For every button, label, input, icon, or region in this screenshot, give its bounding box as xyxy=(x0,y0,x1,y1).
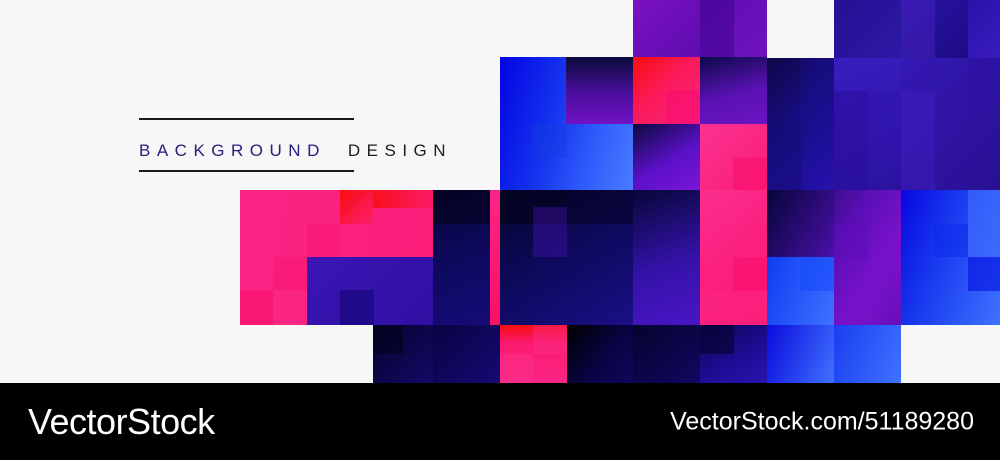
square-overlay xyxy=(666,90,700,124)
headline-text: BACKGROUNDDESIGN xyxy=(139,140,452,162)
rule-top xyxy=(139,118,354,120)
square-bottom-pink xyxy=(500,325,567,383)
square-overlay xyxy=(733,157,767,190)
square-bottom-blue-2 xyxy=(834,325,901,383)
square-bottom-dark-2 xyxy=(633,325,700,383)
square-magenta-center xyxy=(700,190,767,325)
square-overlay xyxy=(968,190,1000,257)
square-bottom-blue-1 xyxy=(767,325,834,383)
footer-bar: VectorStock VectorStock.com/51189280 xyxy=(0,383,1000,460)
square-overlay xyxy=(733,257,767,291)
square-overlay xyxy=(901,91,935,190)
square-overlay xyxy=(968,257,1000,291)
square-purple-blue-right xyxy=(767,190,901,325)
square-overlay-red xyxy=(340,190,373,224)
square-navy-block-2 xyxy=(901,58,1000,190)
square-blue-large xyxy=(500,57,633,190)
square-navy-block-1 xyxy=(834,58,901,190)
square-overlay xyxy=(500,354,533,383)
square-overlay xyxy=(700,291,767,325)
square-overlay xyxy=(934,224,968,257)
poster-canvas: BACKGROUNDDESIGN VectorStock VectorStock… xyxy=(0,0,1000,460)
square-overlay xyxy=(533,325,567,354)
square-overlay-purple xyxy=(566,57,633,124)
square-top-purple-2 xyxy=(700,0,767,58)
square-overlay xyxy=(340,290,374,325)
square-overlay xyxy=(533,124,567,158)
square-overlay xyxy=(307,224,340,257)
square-purple-right xyxy=(700,57,767,124)
square-overlay xyxy=(801,57,834,124)
square-navy-column xyxy=(767,57,834,190)
square-overlay xyxy=(834,91,868,190)
square-bottom-navy-1 xyxy=(373,325,433,383)
geometric-artwork xyxy=(0,0,1000,383)
square-magenta-right xyxy=(700,124,767,190)
vectorstock-logo: VectorStock xyxy=(28,401,215,443)
square-violet-lower xyxy=(633,124,700,190)
square-overlay xyxy=(567,190,633,224)
square-pink-sliver xyxy=(490,190,500,325)
square-top-navy-2 xyxy=(901,0,968,58)
square-overlay xyxy=(700,325,734,354)
square-bottom-navy-2 xyxy=(433,325,500,383)
square-overlay xyxy=(767,190,834,257)
square-overlay xyxy=(273,257,307,290)
square-overlay xyxy=(868,91,901,157)
square-overlay xyxy=(901,0,935,58)
square-violet-center xyxy=(633,190,700,325)
square-overlay xyxy=(240,290,273,325)
square-overlay xyxy=(700,0,734,58)
square-overlay xyxy=(533,207,567,257)
headline-primary: BACKGROUND xyxy=(139,141,326,160)
square-overlay xyxy=(800,257,834,291)
square-red-pink xyxy=(633,57,700,124)
square-overlay xyxy=(373,325,403,354)
square-bottom-dark-1 xyxy=(567,325,633,383)
headline-rule-bottom-wrap xyxy=(139,170,354,172)
square-overlay xyxy=(273,290,307,325)
vectorstock-url: VectorStock.com/51189280 xyxy=(670,407,974,436)
square-top-purple-1 xyxy=(633,0,700,58)
square-overlay xyxy=(767,124,801,190)
headline-secondary: DESIGN xyxy=(348,141,452,160)
square-white-gap-top xyxy=(767,0,834,58)
square-overlay xyxy=(834,224,868,258)
square-top-navy-3 xyxy=(968,0,1000,58)
headline-rules xyxy=(139,118,354,120)
square-navy-center-1 xyxy=(500,190,633,325)
square-bottom-navy-3 xyxy=(700,325,767,383)
square-blue-far-right xyxy=(901,190,1000,325)
rule-bottom xyxy=(139,170,354,172)
square-overlay xyxy=(968,58,1000,116)
square-top-navy-1 xyxy=(834,0,901,58)
